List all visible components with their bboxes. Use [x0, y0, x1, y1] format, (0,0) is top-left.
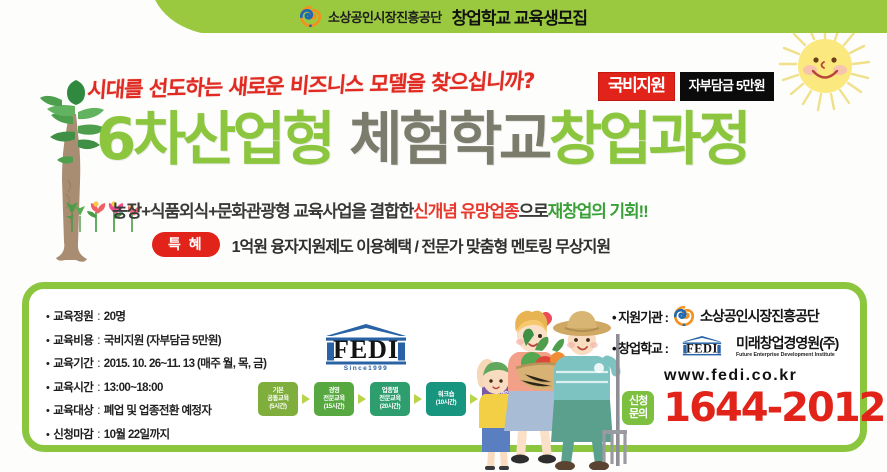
list-item: • 교육기간 : 2015. 10. 26~11. 13 (매주 월, 목, 금…: [46, 355, 346, 371]
school-value: 미래창업경영원(주): [736, 335, 838, 351]
flow-step: 업종별 전문교육 (20시간): [370, 382, 410, 416]
subline-c: 으로: [519, 197, 548, 222]
fedi-wordmark: FEDI: [333, 335, 399, 364]
header-org-name: 소상공인시장진흥공단: [328, 7, 442, 26]
flow-step: 경영 전문교육 (15시간): [314, 382, 354, 416]
flow-line1: 기본: [273, 387, 284, 395]
bullet-icon: •: [46, 430, 49, 441]
bullet-icon: •: [46, 406, 49, 417]
info-colon: :: [97, 405, 100, 417]
header-content: 소상공인시장진흥공단 창업학교 교육생모집: [0, 0, 887, 33]
inquiry-badge-line2: 문의: [629, 408, 647, 421]
website-text: www.fedi.co.kr: [664, 367, 877, 385]
benefit-text: 1억원 융자지원제도 이용혜택 / 전문가 맞춤형 멘토링 무상지원: [232, 233, 610, 257]
flow-arrow-icon: [358, 394, 366, 404]
info-value: 10월 22일까지: [104, 426, 170, 442]
sbc-swirl-logo-icon: [300, 6, 321, 27]
info-colon: :: [97, 382, 100, 394]
info-value: 13:00~18:00: [104, 382, 163, 394]
support-org-label: • 지원기관 :: [612, 307, 668, 326]
phone-row: 신청 문의 1644-2012: [622, 388, 885, 428]
school-line: • 창업학교 : FEDI 미래창업경영원(주) Future Enterpri…: [612, 335, 877, 359]
man-figure: [551, 311, 616, 470]
benefit-pill: 특 혜: [152, 232, 220, 257]
list-item: • 교육정원 : 20명: [46, 308, 346, 324]
top-badge-row: 국비지원 자부담금 5만원: [598, 72, 774, 101]
gov-support-badge: 국비지원: [598, 72, 675, 101]
subline-a: 농장+식품외식+문화관광형 교육사업을 결합한: [112, 197, 413, 222]
farming-family-illustration: [452, 288, 627, 470]
flow-line3: (5시간): [269, 403, 286, 411]
bullet-icon: •: [46, 336, 49, 347]
inquiry-badge-line1: 신청: [629, 395, 647, 408]
phone-number: 1644-2012: [663, 388, 884, 428]
benefit-row: 특 혜 1억원 융자지원제도 이용혜택 / 전문가 맞춤형 멘토링 무상지원: [152, 232, 610, 257]
flow-arrow-icon: [302, 394, 310, 404]
info-colon: :: [97, 311, 100, 323]
flow-arrow-icon: [414, 394, 422, 404]
subline: 농장+식품외식+문화관광형 교육사업을 결합한 신개념 유망업종 으로 재창업의…: [112, 196, 872, 222]
main-title: 6차산업형 체험학교 창업과정: [96, 103, 886, 175]
list-item: • 교육비용 : 국비지원 (자부담금 5만원): [46, 332, 346, 348]
flow-line2: 전문교육: [379, 395, 401, 403]
list-item: • 신청마감 : 10월 22일까지: [46, 426, 346, 442]
info-colon: :: [97, 429, 100, 441]
fedi-pediment-icon: FEDI: [674, 335, 730, 359]
flow-line1: 업종별: [382, 387, 398, 395]
bullet-icon: •: [46, 383, 49, 394]
info-label: 교육대상: [53, 402, 93, 418]
main-title-part2: 체험학교: [349, 110, 548, 168]
bullet-icon: •: [46, 359, 49, 370]
info-value: 폐업 및 업종전환 예정자: [104, 402, 212, 418]
sbc-swirl-logo-icon: [674, 306, 694, 326]
info-label: 교육기간: [53, 355, 93, 371]
info-value: 2015. 10. 26~11. 13 (매주 월, 목, 금): [104, 355, 267, 371]
svg-text:FEDI: FEDI: [686, 341, 718, 355]
bullet-icon: •: [46, 312, 49, 323]
inquiry-badge: 신청 문의: [622, 391, 654, 425]
flow-line1: 경영: [329, 387, 340, 395]
fedi-since: Since1999: [344, 365, 388, 372]
main-title-part3: 창업과정: [549, 110, 748, 168]
fedi-pediment-icon: FEDI Since1999: [312, 322, 420, 372]
header-headline: 창업학교 교육생모집: [452, 4, 587, 29]
subline-highlight-green: 재창업의 기회!!: [548, 197, 648, 222]
flow-line3: (20시간): [380, 403, 400, 411]
subline-highlight-red: 신개념 유망업종: [413, 197, 518, 222]
info-colon: :: [97, 358, 100, 370]
info-label: 교육시간: [53, 379, 93, 395]
support-org-line: • 지원기관 : 소상공인시장진흥공단: [612, 306, 877, 326]
info-label: 교육정원: [53, 308, 93, 324]
info-colon: :: [97, 335, 100, 347]
info-value: 20명: [104, 308, 126, 324]
self-pay-badge: 자부담금 5만원: [680, 72, 774, 101]
info-value: 국비지원 (자부담금 5만원): [104, 332, 221, 348]
school-sub: Future Enterprise Development Institute: [736, 353, 838, 359]
flow-line2: 공통교육: [267, 395, 289, 403]
flow-step: 기본 공통교육 (5시간): [258, 382, 298, 416]
school-label: • 창업학교 :: [612, 338, 668, 357]
right-info-block: • 지원기관 : 소상공인시장진흥공단 • 창업학교 : FEDI 미래창업경영…: [612, 306, 877, 385]
info-label: 신청마감: [53, 426, 93, 442]
support-org-value: 소상공인시장진흥공단: [700, 306, 819, 326]
tagline: 시대를 선도하는 새로운 비즈니스 모델을 찾으십니까?: [86, 59, 590, 109]
info-label: 교육비용: [53, 332, 93, 348]
info-list: • 교육정원 : 20명 • 교육비용 : 국비지원 (자부담금 5만원) • …: [46, 308, 346, 449]
poster-root: 소상공인시장진흥공단 창업학교 교육생모집: [0, 0, 887, 472]
flow-line2: 전문교육: [323, 395, 345, 403]
main-title-part1: 6차산업형: [96, 110, 332, 168]
flow-line3: (15시간): [324, 403, 344, 411]
